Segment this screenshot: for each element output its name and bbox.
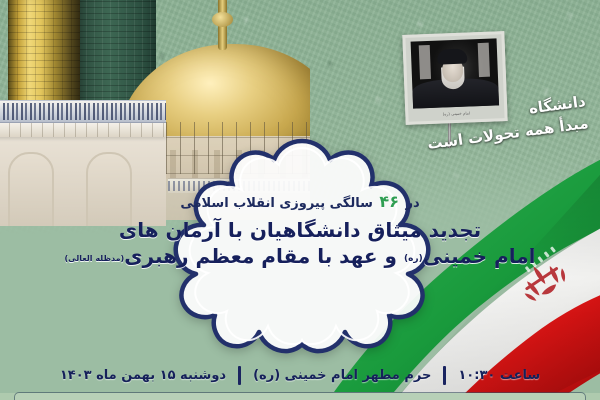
poster-canvas: امام خمینی (ره)	[0, 0, 600, 400]
bottom-rounded-rule	[14, 392, 586, 400]
main-title-leader: و عهد با مقام معظم رهبری	[124, 244, 397, 268]
shrine-calligraphy-band	[0, 100, 166, 123]
main-title-line-2: امام خمینی(ره) و عهد با مقام معظم رهبری(…	[0, 243, 600, 270]
headline-block: در ۴۶ سالگی پیروزی انقلاب اسلامی تجدید م…	[0, 192, 600, 270]
kicker-suffix: سالگی پیروزی انقلاب اسلامی	[180, 196, 373, 211]
event-date: دوشنبه ۱۵ بهمن ماه ۱۴۰۳	[60, 368, 226, 383]
main-title-imam: امام خمینی	[423, 244, 536, 268]
event-time-label: ساعت	[500, 368, 540, 383]
shrine-dome-finial	[218, 0, 227, 50]
event-location: حرم مطهر امام خمینی (ره)	[253, 368, 431, 383]
honorific-modzellah: (مدظله العالی)	[65, 254, 125, 263]
main-title-line-1: تجدید میثاق دانشگاهیان با آرمان های	[0, 217, 600, 244]
portrait-column-right	[478, 43, 490, 77]
event-info-bar: دوشنبه ۱۵ بهمن ماه ۱۴۰۳ حرم مطهر امام خم…	[0, 360, 600, 390]
event-time: ساعت ۱۰:۳۰	[458, 368, 540, 383]
honorific-rah: (ره)	[404, 254, 423, 264]
kicker-prefix: در	[405, 196, 419, 211]
portrait-photo	[411, 38, 500, 108]
event-time-value: ۱۰:۳۰	[458, 368, 495, 383]
portrait-column-left	[418, 45, 430, 79]
portrait-turban	[437, 49, 468, 65]
anniversary-number: ۴۶	[377, 192, 401, 211]
anniversary-kicker: در ۴۶ سالگی پیروزی انقلاب اسلامی	[0, 192, 600, 212]
info-separator-2	[443, 366, 446, 385]
main-title: تجدید میثاق دانشگاهیان با آرمان های امام…	[0, 217, 600, 270]
info-separator-1	[238, 366, 241, 385]
